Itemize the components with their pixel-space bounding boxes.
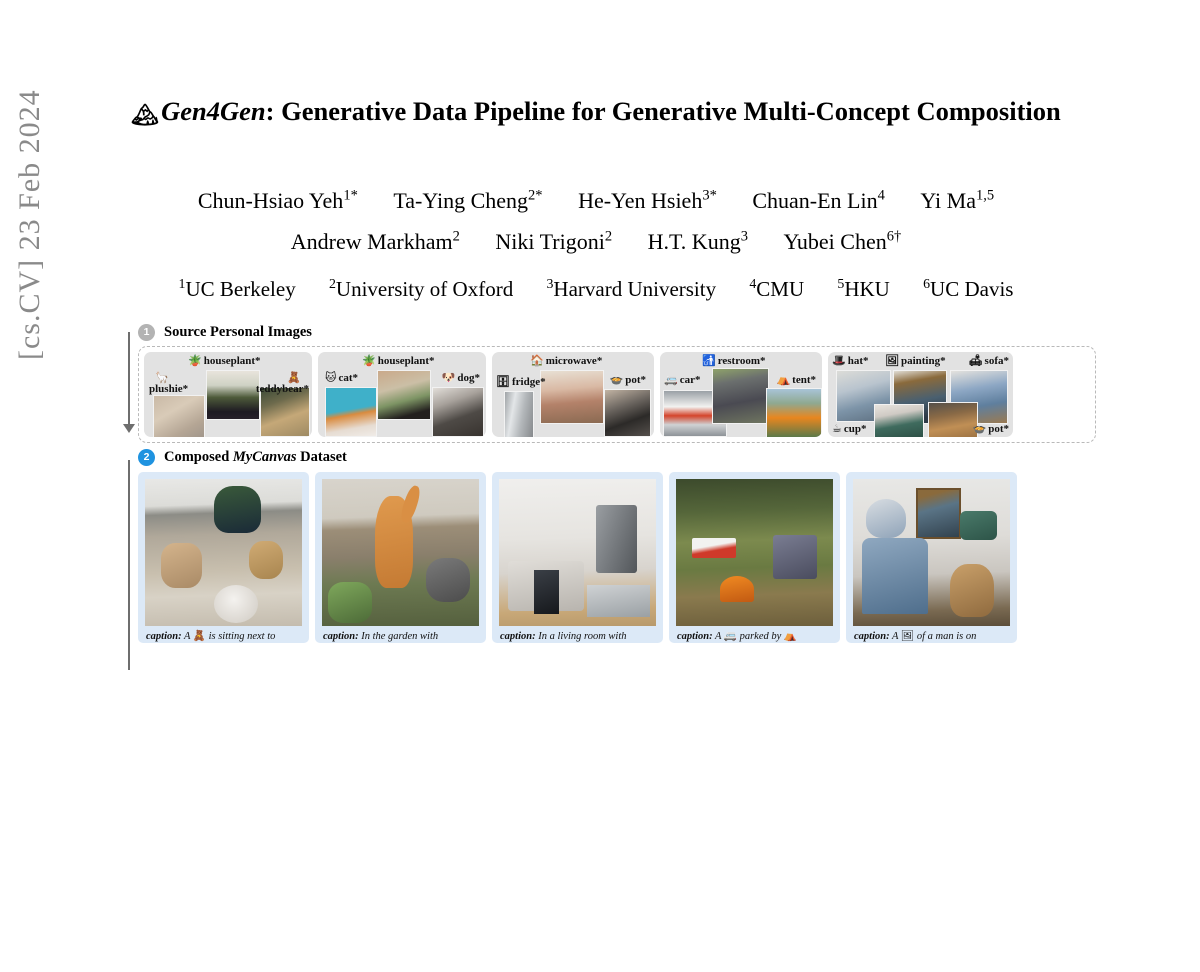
composed-caption: caption: In the garden with	[322, 626, 479, 643]
affiliation-name: HKU	[844, 277, 890, 301]
author-sup: 2	[605, 229, 612, 245]
author: Niki Trigoni2	[495, 229, 612, 254]
concept-tag-houseplant: 🪴houseplant*	[362, 355, 435, 367]
source-thumb-microwave[interactable]	[540, 370, 604, 424]
source-group[interactable]: 🪴houseplant* 🦙plushie* 🧸teddybear*	[144, 352, 312, 437]
minibus-icon: 🚐	[724, 630, 737, 642]
composed-image-car-tent-forest[interactable]	[676, 479, 833, 626]
source-personal-images-panel: 🪴houseplant* 🦙plushie* 🧸teddybear* 🪴hous…	[138, 346, 1096, 443]
concept-tag-dog: 🐶dog*	[442, 372, 480, 384]
framed-picture-icon: 🖼	[901, 630, 914, 642]
source-group[interactable]: 🚮restroom* 🚐car* ⛺tent*	[660, 352, 822, 437]
affiliations-row: 1UC Berkeley 2University of Oxford 3Harv…	[96, 277, 1096, 302]
paper-column: 🏔Gen4Gen: Generative Data Pipeline for G…	[96, 0, 1096, 648]
affiliation-name: UC Berkeley	[185, 277, 295, 301]
composed-card[interactable]: caption: A 🖼 of a man is on	[846, 472, 1017, 643]
top-hat-icon: 🎩	[832, 355, 846, 366]
pipeline-rail	[122, 332, 136, 972]
potted-plant-icon: 🪴	[362, 355, 376, 366]
concept-tag-label: fridge*	[512, 376, 546, 388]
arxiv-stamp: [cs.CV] 23 Feb 2024	[0, 0, 60, 360]
mountain-photo-icon: 🏔	[131, 103, 159, 128]
concept-tag-label: dog*	[457, 372, 480, 384]
pot-of-food-icon: 🍲	[973, 423, 987, 434]
author-name: Chuan-En Lin	[752, 188, 877, 213]
author: Andrew Markham2	[291, 229, 460, 254]
concept-tag-sofa: 🛋sofa*	[969, 355, 1009, 367]
author-name: Ta-Ying Cheng	[393, 188, 528, 213]
step-2-title-post: Dataset	[297, 449, 347, 465]
author-sup: 3*	[702, 188, 717, 204]
author-row-2: Andrew Markham2 Niki Trigoni2 H.T. Kung3…	[96, 222, 1096, 263]
source-thumb-houseplant[interactable]	[206, 370, 260, 420]
step-2-header: 2 Composed MyCanvas Dataset	[138, 449, 1096, 466]
pot-of-food-icon: 🍲	[610, 374, 624, 385]
arxiv-stamp-text: [cs.CV] 23 Feb 2024	[13, 89, 47, 360]
author: Chun-Hsiao Yeh1*	[198, 188, 358, 213]
composed-image-cat-garden[interactable]	[322, 479, 479, 626]
composed-card[interactable]: caption: In the garden with	[315, 472, 486, 643]
author-name: H.T. Kung	[648, 229, 741, 254]
composed-card[interactable]: caption: In a living room with	[492, 472, 663, 643]
affiliation: 3Harvard University	[546, 277, 716, 301]
affiliation-name: University of Oxford	[336, 277, 513, 301]
tent-icon: ⛺	[784, 630, 797, 642]
caption-text-post: parked by	[737, 631, 784, 642]
concept-tag-car: 🚐car*	[664, 374, 700, 386]
concept-tag-cup: ☕cup*	[832, 423, 867, 435]
caption-text-post: of a man is on	[914, 631, 976, 642]
concept-tag-label: restroom*	[718, 355, 766, 367]
caption-text-post: is sitting next to	[206, 631, 275, 642]
author: He-Yen Hsieh3*	[578, 188, 717, 213]
caption-text-pre: A	[713, 631, 724, 642]
caption-label: caption:	[146, 631, 182, 642]
concept-tag-label: plushie*	[149, 383, 188, 395]
rail-line-step2	[128, 460, 130, 670]
author-name: Niki Trigoni	[495, 229, 604, 254]
composed-image-plushie-teddybear[interactable]	[145, 479, 302, 626]
affiliation-name: Harvard University	[553, 277, 716, 301]
source-thumb-pot[interactable]	[928, 402, 978, 437]
author-name: Andrew Markham	[291, 229, 453, 254]
caption-label: caption:	[854, 631, 890, 642]
author-sup: 4	[878, 188, 885, 204]
author: Ta-Ying Cheng2*	[393, 188, 542, 213]
minibus-icon: 🚐	[664, 374, 678, 385]
concept-tag-label: cup*	[844, 423, 867, 435]
restroom-icon: 🚮	[702, 355, 716, 366]
author-sup: 1,5	[976, 188, 994, 204]
caption-label: caption:	[323, 631, 359, 642]
dog-face-icon: 🐶	[442, 372, 456, 383]
concept-tag-label: hat*	[848, 355, 869, 367]
concept-tag-label: painting*	[901, 355, 946, 367]
author: H.T. Kung3	[648, 229, 748, 254]
source-thumb-restroom[interactable]	[712, 368, 769, 424]
concept-tag-label: microwave*	[546, 355, 603, 367]
microwave-icon: 🏠	[530, 355, 544, 366]
caption-text-pre: A	[182, 631, 193, 642]
author-name: Yi Ma	[920, 188, 976, 213]
author-sup: 6†	[887, 229, 902, 245]
composed-caption: caption: In a living room with	[499, 626, 656, 643]
composed-card[interactable]: caption: A 🧸 is sitting next to	[138, 472, 309, 643]
step-2-title-pre: Composed	[164, 449, 233, 465]
hot-beverage-icon: ☕	[832, 423, 842, 434]
author-sup: 2*	[528, 188, 543, 204]
source-thumb-plushie[interactable]	[153, 395, 205, 437]
concept-tag-microwave: 🏠microwave*	[530, 355, 602, 367]
composed-mycanvas-panel: caption: A 🧸 is sitting next to caption:…	[138, 472, 1096, 643]
concept-tag-houseplant: 🪴houseplant*	[188, 355, 261, 367]
source-thumb-pot[interactable]	[604, 389, 651, 437]
source-thumb-tent[interactable]	[766, 388, 822, 437]
composed-image-painting-chair[interactable]	[853, 479, 1010, 626]
framed-picture-icon: 🖼	[885, 355, 899, 366]
cat-face-icon: 🐱	[325, 372, 336, 383]
affiliation-sup: 2	[329, 276, 336, 291]
source-thumb-cup[interactable]	[874, 404, 924, 437]
concept-tag-teddybear: 🧸teddybear*	[256, 372, 309, 395]
caption-text-pre: In the garden with	[359, 631, 439, 642]
concept-tag-pot: 🍲pot*	[610, 374, 646, 386]
affiliation: 4CMU	[749, 277, 804, 301]
rail-line-step1	[128, 332, 130, 424]
caption-label: caption:	[500, 631, 536, 642]
concept-tag-painting: 🖼painting*	[885, 355, 946, 367]
author-name: Yubei Chen	[783, 229, 886, 254]
concept-tag-cat: 🐱cat*	[325, 372, 358, 384]
concept-tag-pot: 🍲pot*	[973, 423, 1009, 435]
author-row-1: Chun-Hsiao Yeh1* Ta-Ying Cheng2* He-Yen …	[96, 181, 1096, 222]
composed-caption: caption: A 🧸 is sitting next to	[145, 626, 302, 643]
title-block: 🏔Gen4Gen: Generative Data Pipeline for G…	[96, 0, 1096, 129]
step-1-badge: 1	[138, 324, 155, 341]
potted-plant-icon: 🪴	[188, 355, 202, 366]
concept-tag-label: pot*	[988, 423, 1009, 435]
tent-icon: ⛺	[776, 374, 790, 385]
page-title: 🏔Gen4Gen: Generative Data Pipeline for G…	[96, 96, 1096, 129]
step-1-title: Source Personal Images	[164, 324, 312, 341]
author-sup: 1*	[343, 188, 358, 204]
composed-card[interactable]: caption: A 🚐 parked by ⛺	[669, 472, 840, 643]
affiliation: 2University of Oxford	[329, 277, 513, 301]
concept-tag-restroom: 🚮restroom*	[702, 355, 766, 367]
concept-tag-hat: 🎩hat*	[832, 355, 868, 367]
author-name: He-Yen Hsieh	[578, 188, 702, 213]
concept-tag-label: car*	[680, 374, 701, 386]
pipeline-figure: 1 Source Personal Images 🪴houseplant* 🦙p…	[96, 324, 1096, 643]
concept-tag-label: sofa*	[985, 355, 1009, 367]
affiliation-sup: 6	[923, 276, 930, 291]
step-2-title: Composed MyCanvas Dataset	[164, 449, 347, 466]
composed-caption: caption: A 🖼 of a man is on	[853, 626, 1010, 643]
composed-image-living-room[interactable]	[499, 479, 656, 626]
source-thumb-dog[interactable]	[432, 387, 484, 437]
source-thumb-cat[interactable]	[325, 387, 377, 437]
author: Yubei Chen6†	[783, 229, 901, 254]
concept-tag-tent: ⛺tent*	[776, 374, 816, 386]
composed-caption: caption: A 🚐 parked by ⛺	[676, 626, 833, 643]
source-group[interactable]: 🪴houseplant* 🐱cat* 🐶dog*	[318, 352, 486, 437]
author-sup: 3	[741, 229, 748, 245]
author: Chuan-En Lin4	[752, 188, 885, 213]
caption-label: caption:	[677, 631, 713, 642]
source-group[interactable]: 🏠microwave* 🗄fridge* 🍲pot*	[492, 352, 654, 437]
concept-tag-label: houseplant*	[204, 355, 261, 367]
author: Yi Ma1,5	[920, 188, 994, 213]
concept-tag-fridge: 🗄fridge*	[496, 376, 546, 388]
author-sup: 2	[453, 229, 460, 245]
couch-icon: 🛋	[969, 355, 983, 366]
source-thumb-houseplant[interactable]	[377, 370, 431, 420]
concept-tag-plushie: 🦙plushie*	[149, 372, 188, 395]
rail-arrowhead	[123, 424, 135, 433]
caption-text-pre: In a living room with	[536, 631, 627, 642]
affiliation: 1UC Berkeley	[179, 277, 296, 301]
teddy-bear-icon: 🧸	[287, 372, 301, 383]
affiliation-name: CMU	[756, 277, 804, 301]
llama-icon: 🦙	[155, 372, 169, 383]
step-2-badge: 2	[138, 449, 155, 466]
affiliation-name: UC Davis	[930, 277, 1013, 301]
concept-tag-label: cat*	[338, 372, 358, 384]
caption-text-pre: A	[890, 631, 901, 642]
concept-tag-label: tent*	[792, 374, 816, 386]
teddy-bear-icon: 🧸	[193, 630, 206, 642]
source-thumb-fridge[interactable]	[504, 391, 534, 437]
authors-block: Chun-Hsiao Yeh1* Ta-Ying Cheng2* He-Yen …	[96, 181, 1096, 262]
author-name: Chun-Hsiao Yeh	[198, 188, 343, 213]
step-2-title-dataset: MyCanvas	[233, 449, 297, 465]
fridge-icon: 🗄	[496, 376, 510, 387]
concept-tag-label: teddybear*	[256, 383, 309, 395]
concept-tag-label: houseplant*	[378, 355, 435, 367]
paper-title-rest: : Generative Data Pipeline for Generativ…	[266, 96, 1061, 126]
source-group[interactable]: 🎩hat* 🖼painting* 🛋sofa* ☕cup* 🍲pot*	[828, 352, 1013, 437]
step-1-header: 1 Source Personal Images	[138, 324, 1096, 341]
paper-title-name: Gen4Gen	[161, 96, 266, 126]
affiliation: 5HKU	[837, 277, 889, 301]
concept-tag-label: pot*	[625, 374, 646, 386]
affiliation: 6UC Davis	[923, 277, 1013, 301]
